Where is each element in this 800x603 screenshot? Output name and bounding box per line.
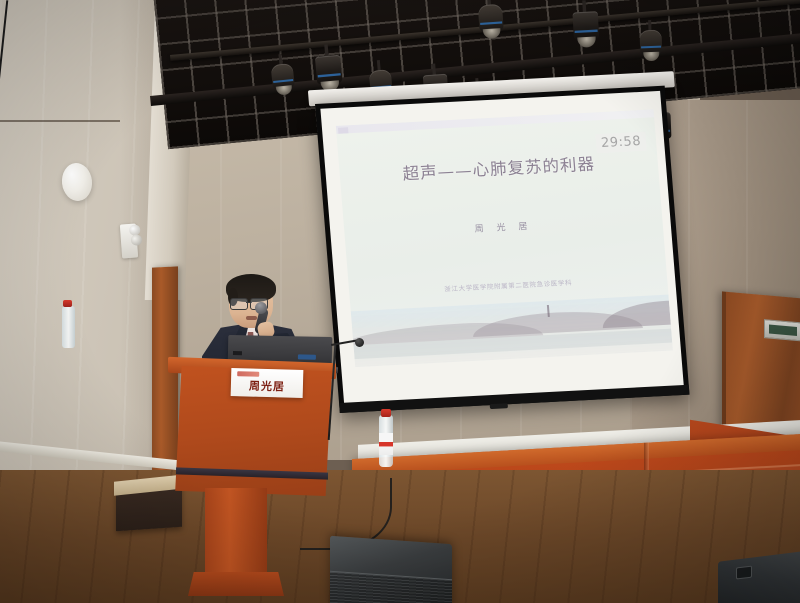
stage-light-icon [315,52,344,93]
screen-surface: 超声——心肺复苏的利器 周 光 居 浙江大学医学院附属第二医院急诊医学科 29:… [320,91,684,408]
countdown-timer: 29:58 [595,132,646,154]
placard-logo-icon [237,371,259,377]
speaker-handle [736,566,752,580]
laptop-logo-icon [233,351,242,355]
screen-weight-bar [490,403,508,409]
stage-light-icon [639,28,662,63]
presentation-slide: 超声——心肺复苏的利器 周 光 居 浙江大学医学院附属第二医院急诊医学科 29:… [336,109,673,367]
placard-name: 周光居 [249,378,285,398]
slide-author: 周 光 居 [344,212,663,242]
boom-microphone-icon [355,338,364,347]
water-bottle [62,306,75,348]
bottle-label [379,433,393,455]
speaker-grille [330,571,452,603]
stage-light-icon [270,61,295,97]
stage-light-icon [572,9,599,49]
stage-monitor-speaker [330,536,452,603]
door-sign [764,319,800,341]
podium-base [188,572,284,596]
slide-affiliation: 浙江大学医学院附属第二医院急诊医学科 [349,272,667,299]
bottle-cap [381,409,391,417]
floor-cable [0,120,120,122]
hill-shape [601,298,673,328]
slide-top-band [336,109,654,134]
projection-screen: 超声——心肺复苏的利器 周 光 居 浙江大学医学院附属第二医院急诊医学科 29:… [315,86,690,413]
lecture-hall-photo: 超声——心肺复苏的利器 周 光 居 浙江大学医学院附属第二医院急诊医学科 29:… [0,0,800,603]
bottle-cap [63,300,72,307]
screen-frame: 超声——心肺复苏的利器 周 光 居 浙江大学医学院附属第二医院急诊医学科 29:… [315,86,690,413]
slide-corner-mark [338,127,348,134]
name-placard: 周光居 [231,368,304,398]
stage-light-icon [478,2,505,41]
slide-background-photo [351,295,673,367]
wall-camera-icon [120,223,138,258]
pagoda-shape [547,305,550,317]
mouth [246,316,257,320]
podium-column [205,488,267,580]
slide-title: 超声——心肺复苏的利器 [339,147,659,188]
